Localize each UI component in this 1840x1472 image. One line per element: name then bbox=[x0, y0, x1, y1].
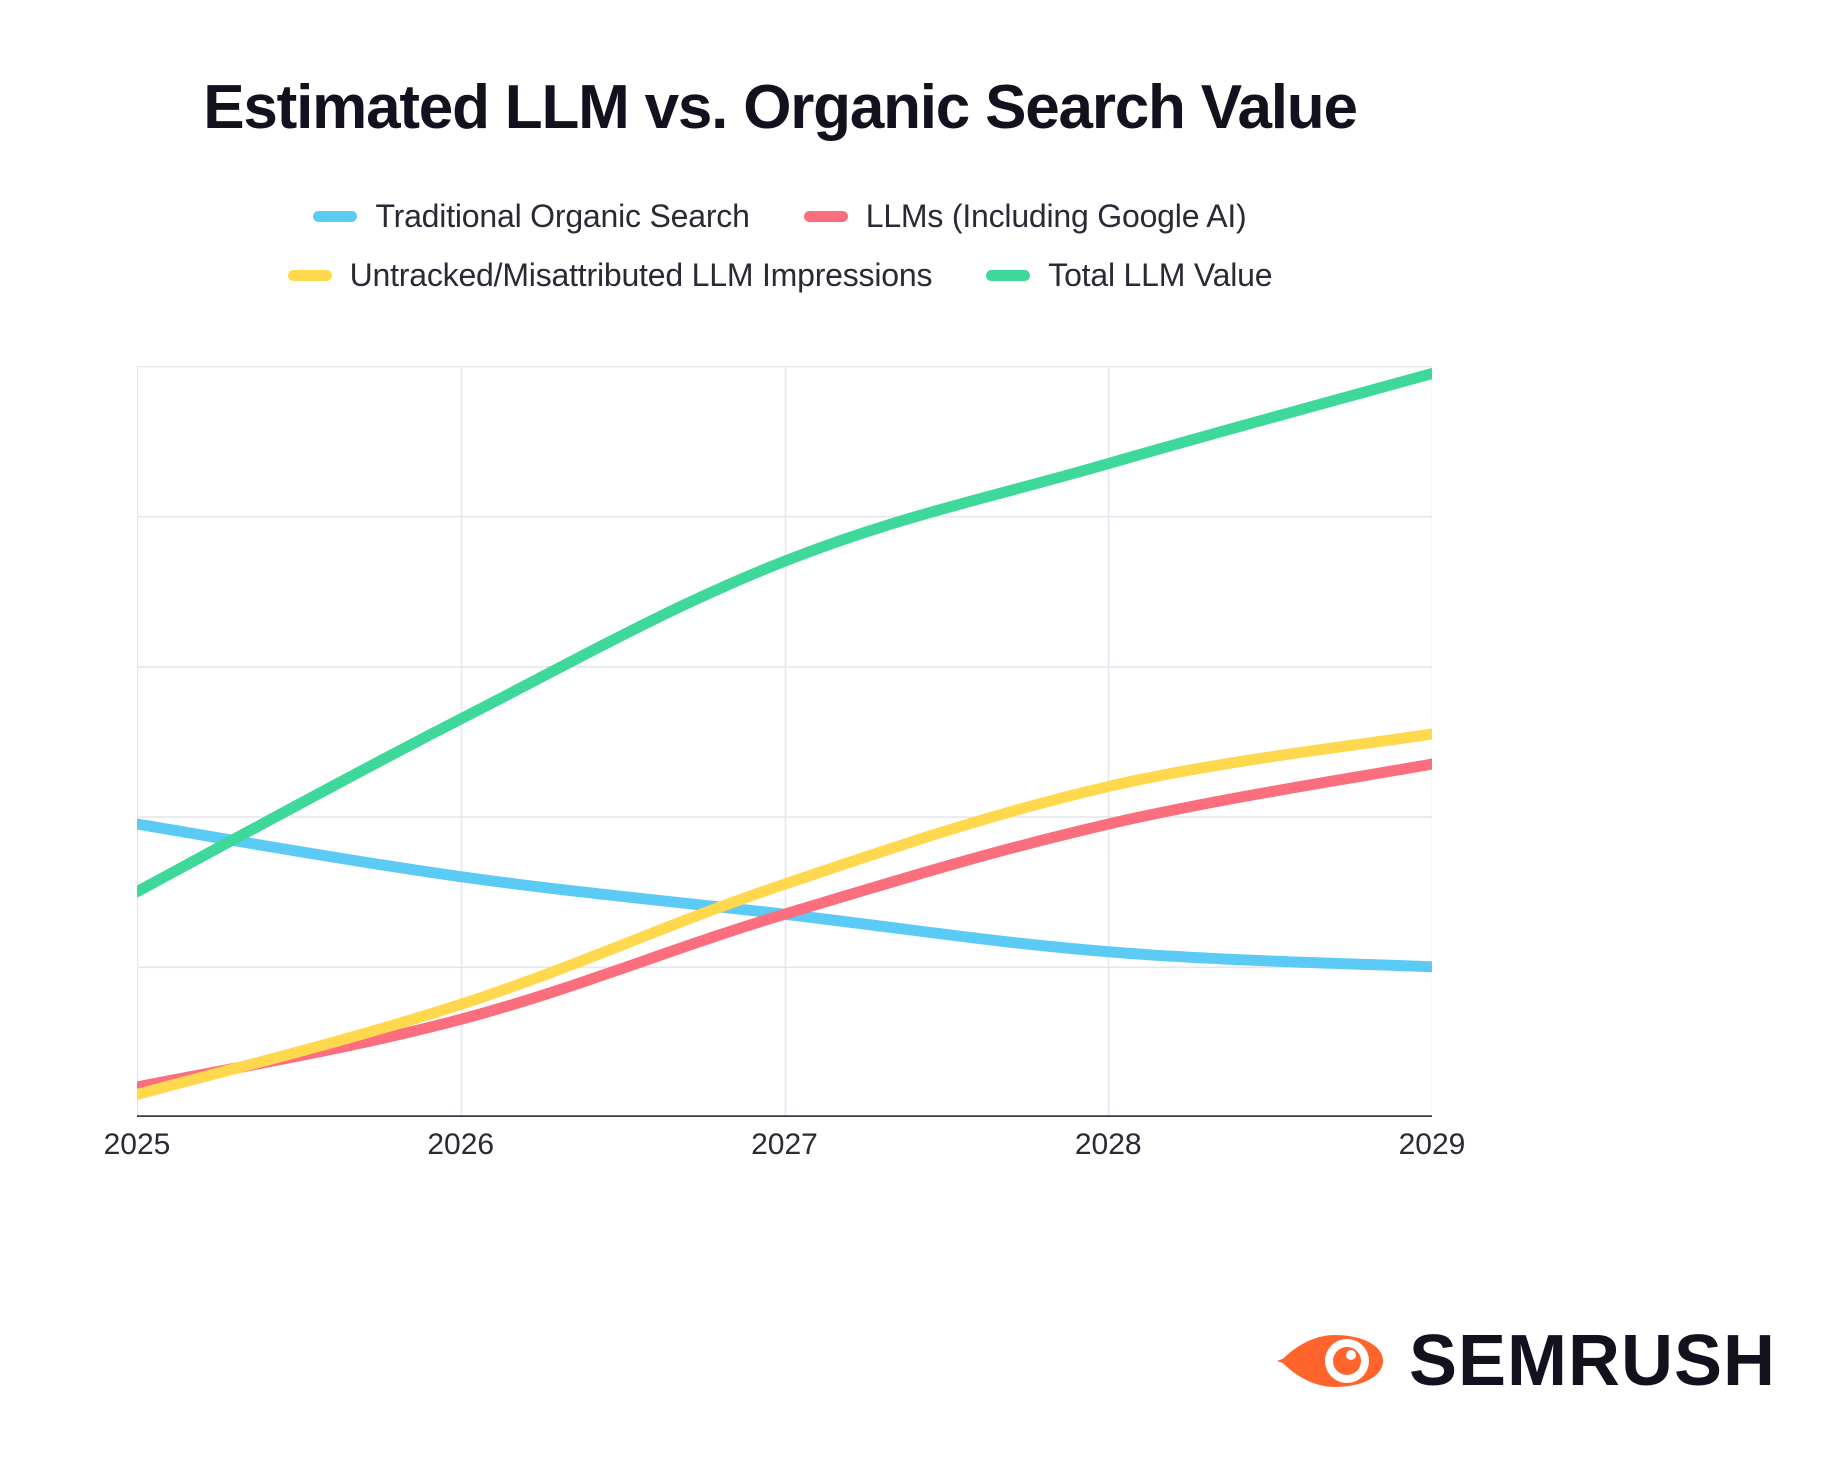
legend-item-llms-including-google-ai[interactable]: LLMs (Including Google AI) bbox=[804, 198, 1247, 235]
x-axis-tick-label: 2027 bbox=[751, 1128, 818, 1162]
legend-item-label: Untracked/Misattributed LLM Impressions bbox=[350, 257, 933, 294]
series-line[interactable] bbox=[137, 824, 1432, 967]
legend-swatch-icon bbox=[804, 211, 848, 222]
legend-swatch-icon bbox=[313, 211, 357, 222]
chart-legend: Traditional Organic Search LLMs (Includi… bbox=[0, 198, 1560, 294]
series-line[interactable] bbox=[137, 374, 1432, 892]
x-axis-tick-label: 2028 bbox=[1075, 1128, 1142, 1162]
chart-canvas: Estimated LLM vs. Organic Search Value T… bbox=[0, 0, 1840, 1472]
legend-item-traditional-organic-search[interactable]: Traditional Organic Search bbox=[313, 198, 749, 235]
series-lines bbox=[137, 374, 1432, 1095]
x-axis-tick-label: 2025 bbox=[104, 1128, 171, 1162]
legend-item-untracked-misattributed-llm-impressions[interactable]: Untracked/Misattributed LLM Impressions bbox=[288, 257, 933, 294]
legend-item-label: Traditional Organic Search bbox=[375, 198, 749, 235]
brand-name: SEMRUSH bbox=[1409, 1325, 1776, 1397]
legend-row: Untracked/Misattributed LLM Impressions … bbox=[0, 257, 1560, 294]
legend-item-label: Total LLM Value bbox=[1048, 257, 1272, 294]
semrush-comet-icon bbox=[1277, 1322, 1387, 1400]
grid-lines bbox=[137, 366, 1432, 1117]
semrush-logo: SEMRUSH bbox=[1277, 1322, 1776, 1400]
line-chart-svg bbox=[137, 366, 1432, 1117]
x-axis-tick-label: 2026 bbox=[427, 1128, 494, 1162]
page-title: Estimated LLM vs. Organic Search Value bbox=[0, 72, 1560, 143]
legend-row: Traditional Organic Search LLMs (Includi… bbox=[0, 198, 1560, 235]
legend-swatch-icon bbox=[288, 270, 332, 281]
legend-item-label: LLMs (Including Google AI) bbox=[866, 198, 1247, 235]
legend-item-total-llm-value[interactable]: Total LLM Value bbox=[986, 257, 1272, 294]
legend-swatch-icon bbox=[986, 270, 1030, 281]
x-axis-labels: 20252026202720282029 bbox=[137, 1128, 1432, 1178]
x-axis-tick-label: 2029 bbox=[1399, 1128, 1466, 1162]
plot-area bbox=[137, 366, 1432, 1117]
